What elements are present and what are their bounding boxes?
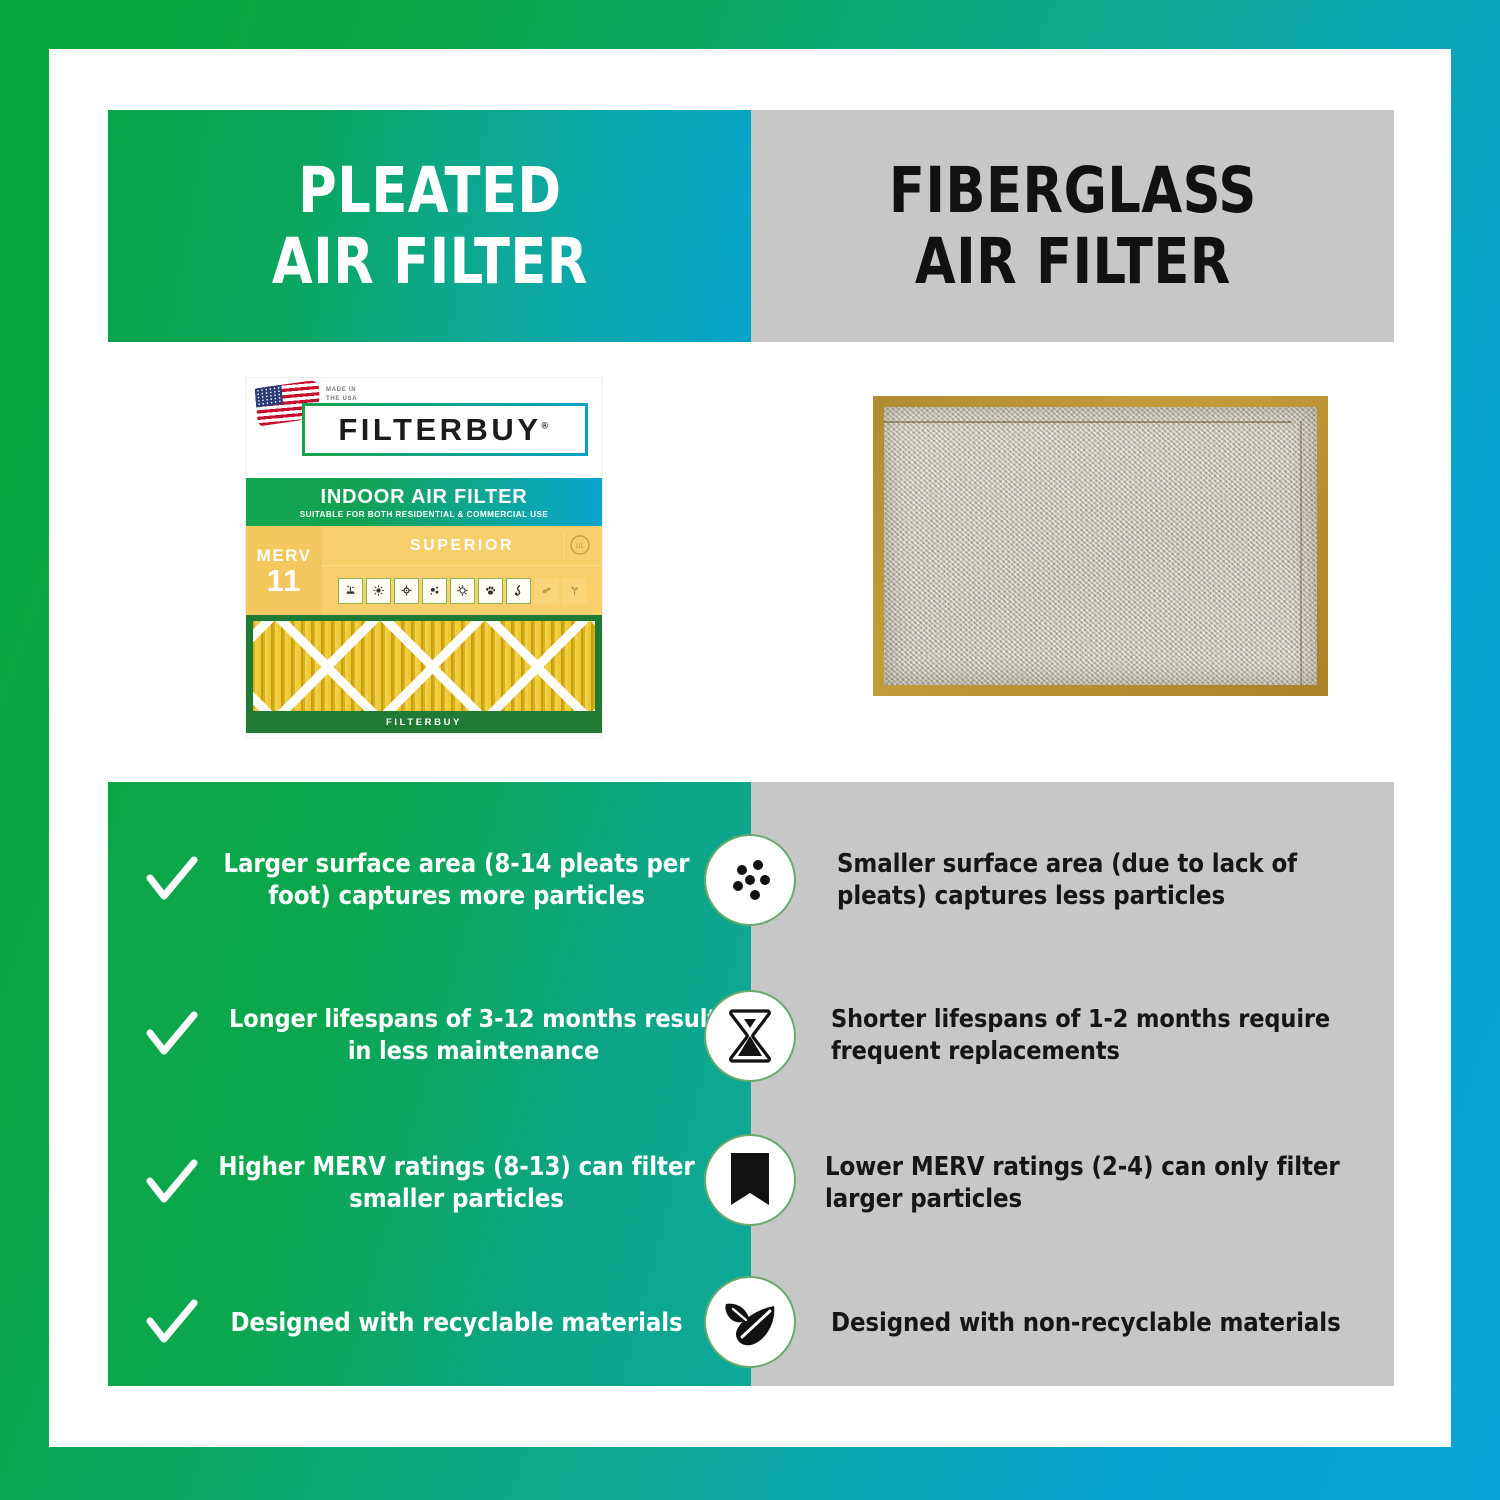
header-fiberglass-title: FIBERGLASS AIR FILTER — [889, 155, 1257, 297]
smoke-icon — [506, 578, 531, 604]
package-footer-brand: FILTERBUY — [246, 711, 602, 733]
pet-dander-icon — [478, 578, 503, 604]
tier-label: SUPERIOR — [410, 537, 514, 555]
header-fiberglass-line1: FIBERGLASS — [889, 155, 1257, 226]
filterbuy-logo: FILTERBUY® — [302, 403, 588, 456]
capture-icon-strip — [322, 566, 602, 615]
fiberglass-filter-photo — [873, 396, 1328, 696]
mold-spores-icon — [394, 578, 419, 604]
virus-icon — [450, 578, 475, 604]
header-pleated-line2: AIR FILTER — [271, 226, 587, 297]
made-in-usa-label: MADE INTHE USA — [326, 386, 357, 403]
merv-rating-block: MERV 11 — [246, 526, 322, 615]
pollen-grain-icon-faded — [534, 578, 559, 604]
merv-details: SUPERIOR UL — [322, 526, 602, 615]
band-subtitle: SUITABLE FOR BOTH RESIDENTIAL & COMMERCI… — [300, 510, 549, 519]
ul-listed-badge-icon: UL — [564, 532, 594, 560]
header-pleated-line1: PLEATED — [271, 155, 587, 226]
pollen-icon — [366, 578, 391, 604]
frame-seam-top — [884, 421, 1292, 423]
package-band: INDOOR AIR FILTER SUITABLE FOR BOTH RESI… — [246, 478, 602, 526]
band-title: INDOOR AIR FILTER — [321, 487, 528, 508]
comparison-left-background — [108, 782, 751, 1386]
comparison-right-background — [751, 782, 1394, 1386]
bacteria-icon — [422, 578, 447, 604]
pleat-texture — [253, 621, 595, 715]
pleated-media-image: FILTERBUY — [246, 615, 602, 733]
product-images-row: MADE INTHE USA FILTERBUY® INDOOR AIR FIL… — [108, 360, 1394, 770]
svg-text:UL: UL — [575, 543, 584, 550]
tier-row: SUPERIOR UL — [322, 526, 602, 566]
package-header: MADE INTHE USA FILTERBUY® — [246, 378, 602, 478]
merv-value: 11 — [267, 566, 302, 595]
sprout-icon-faded — [562, 578, 587, 604]
header-pleated: PLEATED AIR FILTER — [108, 110, 751, 342]
header-banner: PLEATED AIR FILTER FIBERGLASS AIR FILTER — [108, 110, 1394, 342]
header-fiberglass-line2: AIR FILTER — [889, 226, 1257, 297]
merv-section: MERV 11 SUPERIOR UL — [246, 526, 602, 615]
filterbuy-logo-text: FILTERBUY® — [338, 412, 551, 448]
comparison-panel — [108, 782, 1394, 1386]
frame-seam-right — [1300, 421, 1302, 685]
fiberglass-media — [884, 407, 1317, 685]
support-lattice — [253, 621, 595, 715]
dust-icon — [338, 578, 363, 604]
header-pleated-title: PLEATED AIR FILTER — [271, 155, 587, 297]
pleated-filter-package: MADE INTHE USA FILTERBUY® INDOOR AIR FIL… — [246, 378, 602, 738]
header-fiberglass: FIBERGLASS AIR FILTER — [751, 110, 1394, 342]
